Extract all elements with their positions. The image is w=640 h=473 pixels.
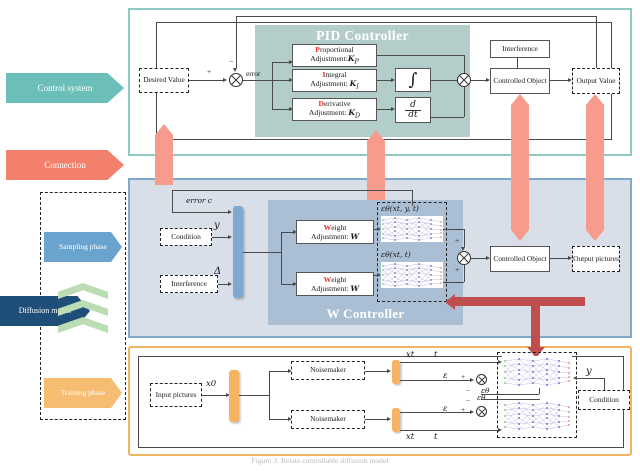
wire-xt-t-top: [400, 362, 498, 363]
eps-unconditional-network: [381, 262, 443, 288]
condition-signal-label: y: [214, 220, 220, 231]
connection-arrow-3-head: [511, 94, 529, 105]
connection-arrow-1-head: [155, 124, 173, 135]
w1-line2: Adjustment:: [311, 232, 349, 241]
condition-label-sampling: Condition: [171, 233, 201, 242]
training-network-top: [502, 356, 572, 388]
ribbon-control-system: Control system: [6, 73, 124, 103]
wire-to-weight-top: [281, 232, 293, 233]
ribbon-connection-label: Connection: [44, 160, 86, 170]
wire-p-out: [377, 55, 464, 56]
arrowhead-eps-bottom: [377, 273, 381, 277]
proportional-adjustment-box: Proportional Adjustment:KP: [292, 44, 377, 67]
derivative-denominator: dt: [405, 111, 420, 120]
d-line2: Adjustment:: [309, 108, 347, 117]
desired-value-box: Desired Value: [139, 68, 189, 93]
integral-operator-box: ∫: [395, 68, 431, 92]
w-output-summing-junction: [457, 251, 471, 265]
wire-noisemaker-bottom-out: [365, 419, 387, 420]
ribbon-sampling-phase: Sampling phase: [44, 232, 122, 262]
i-rest: ntegral: [325, 70, 346, 79]
arrowhead-eps-top: [377, 227, 381, 231]
w2-sym: W: [350, 284, 359, 293]
interference-label-sampling: Interference: [171, 280, 207, 289]
output-value-box: Output Value: [572, 68, 620, 94]
controlled-object-box-sampling: Controlled Object: [490, 246, 550, 272]
wire-error-bus: [243, 80, 272, 81]
derivative-adjustment-box: Derivative Adjustment: KD: [292, 98, 377, 121]
pid-controller-title: PID Controller: [255, 27, 470, 45]
wire-xt-t-bottom: [400, 430, 498, 431]
arrowhead-condition: [228, 235, 232, 239]
condition-box-training: Condition: [578, 390, 630, 410]
arrowhead-bar-top: [387, 369, 391, 373]
wire-eps-top-out: [443, 229, 464, 230]
train-minus-top: −: [466, 386, 470, 395]
p-rest: roportional: [320, 45, 354, 54]
ribbon-training-phase-label: Training phase: [61, 389, 106, 398]
d-rest: erivative: [324, 99, 351, 108]
wire-condition-to-net: [577, 378, 604, 379]
weight-adjustment-box-top: Weight Adjustment: W: [296, 220, 374, 244]
arrowhead-bar-bottom: [387, 417, 391, 421]
wire-plant-to-output: [550, 80, 568, 81]
w-controller-title: W Controller: [268, 305, 463, 323]
xt-label-bottom: xt: [406, 432, 414, 442]
ribbon-connection: Connection: [6, 150, 124, 180]
integral-adjustment-box: Integral Adjustment: KI: [292, 69, 377, 92]
wire-error-to-d: [272, 109, 289, 110]
eps-conditional-label: εθ(xt, y, t): [381, 204, 419, 213]
p-sub: P: [354, 59, 358, 66]
weight-adjustment-box-bottom: Weight Adjustment: W: [296, 272, 374, 296]
w2-line2: Adjustment:: [311, 284, 349, 293]
p-line2: Adjustment:: [310, 54, 348, 63]
training-bar-top: [392, 360, 400, 384]
wire-split-vertical: [269, 371, 270, 419]
t-label-top: t: [434, 350, 437, 360]
training-to-sampling-arrow-shaft-h: [455, 297, 585, 306]
loss-junction-bottom: [476, 406, 487, 417]
wire-eps-bottom-up: [464, 265, 465, 282]
ribbon-sampling-phase-label: Sampling phase: [59, 243, 107, 252]
w2-rest: eight: [331, 275, 346, 284]
wire-eps-top-down: [464, 229, 465, 247]
wire-derivative-up: [464, 87, 465, 117]
d-gain: K: [348, 108, 355, 117]
arrowhead-interference-sampling: [228, 282, 232, 286]
wire-input-to-bar: [202, 395, 226, 396]
wire-error-to-p: [272, 62, 289, 63]
wire-bar-out: [243, 252, 281, 253]
interference-label-control: Interference: [502, 45, 538, 54]
training-to-sampling-arrow-shaft-v: [531, 297, 540, 347]
condition-label-training: Condition: [589, 396, 619, 405]
error-summing-junction: [229, 73, 243, 87]
xt-label-top: xt: [406, 350, 414, 360]
sampling-concat-bar: [233, 206, 243, 298]
controlled-object-label-sampling: Controlled Object: [493, 255, 546, 264]
error-c-text: error c: [186, 196, 212, 205]
arrowhead-to-sum: [223, 78, 227, 82]
wire-to-weight-bottom: [281, 284, 293, 285]
connection-arrow-2-head: [367, 130, 385, 141]
sum-plus-sign: +: [207, 67, 211, 76]
noisemaker-label-top: Noisemaker: [310, 366, 346, 375]
interference-signal-label: Δ: [214, 266, 221, 277]
wire-eps-top-in: [400, 380, 470, 381]
desired-value-label: Desired Value: [143, 76, 185, 85]
error-label: error: [246, 69, 260, 78]
training-to-sampling-arrow-head-left: [445, 294, 455, 310]
training-input-bar: [229, 370, 239, 422]
noisemaker-label-bottom: Noisemaker: [310, 415, 346, 424]
wire-desired-to-sum: [189, 80, 223, 81]
interference-box-control: Interference: [490, 40, 550, 58]
wire-w-sum-to-plant: [471, 258, 486, 259]
wire-to-noisemaker-top: [269, 371, 288, 372]
wire-error-to-i: [272, 80, 289, 81]
output-value-label: Output Value: [576, 77, 615, 86]
error-c-label: error c: [186, 196, 212, 205]
w1-sym: W: [350, 232, 359, 241]
wire-sum-to-plant: [471, 80, 486, 81]
connection-arrow-3-shaft: [511, 105, 529, 230]
controlled-object-box-control: Controlled Object: [490, 68, 550, 94]
w1-rest: eight: [331, 223, 346, 232]
wire-bar-split-training: [239, 395, 269, 396]
integral-symbol: ∫: [409, 70, 418, 90]
ribbon-control-system-label: Control system: [38, 83, 93, 93]
w-sum-plus-top: +: [455, 236, 459, 245]
wire-error-c-to-bar: [172, 212, 228, 213]
wire-plant-to-output-pictures: [550, 258, 568, 259]
training-bar-bottom: [392, 408, 400, 432]
wire-derivative-out: [431, 117, 464, 118]
condition-box-sampling: Condition: [160, 228, 212, 246]
noisemaker-box-bottom: Noisemaker: [291, 410, 365, 429]
arrowhead-loss-top: [470, 378, 474, 382]
connection-arrow-4-head-down: [586, 230, 604, 241]
w-sum-plus-bottom: +: [455, 265, 459, 274]
condition-signal-label-training: y: [586, 366, 592, 377]
controlled-object-label-control: Controlled Object: [493, 77, 546, 86]
wire-feedback-down: [236, 16, 237, 68]
pid-output-summing-junction: [457, 73, 471, 87]
wire-integral-out: [431, 80, 457, 81]
output-pictures-box: Output pictures: [572, 246, 620, 272]
wire-error-c-top: [172, 190, 412, 191]
wire-condition-up-training: [604, 378, 605, 390]
arrowhead-error-c: [228, 210, 232, 214]
interference-box-sampling: Interference: [160, 275, 218, 293]
t-label-bottom: t: [434, 432, 437, 442]
i-sub: I: [356, 84, 359, 91]
derivative-operator-box: d dt: [395, 97, 431, 123]
eps-conditional-network: [381, 216, 443, 242]
wire-d-to-derivative: [377, 109, 391, 110]
connection-arrow-2-shaft: [367, 141, 385, 201]
arrowhead-loss-bottom: [470, 410, 474, 414]
arrowhead-feedback: [233, 68, 237, 72]
output-pictures-label: Output pictures: [573, 255, 619, 264]
d-sub: D: [355, 113, 360, 120]
noisemaker-box-top: Noisemaker: [291, 361, 365, 380]
figure-caption: Figure 3. Relate controllable diffusion …: [0, 456, 640, 465]
input-pictures-label: Input pictures: [156, 391, 197, 400]
connection-arrow-4-shaft: [586, 105, 604, 230]
connection-arrow-1-shaft: [155, 135, 173, 185]
wire-bar-split: [281, 232, 282, 284]
wire-i-to-integral: [377, 80, 391, 81]
wire-feedback-top: [236, 16, 596, 17]
input-pictures-box: Input pictures: [150, 383, 202, 407]
derivative-numerator: d: [405, 101, 420, 111]
wire-interference-to-bar: [218, 284, 228, 285]
x0-label: x0: [206, 379, 216, 389]
loss-junction-top: [476, 374, 487, 385]
wire-condition-to-bar: [212, 237, 228, 238]
i-line2: Adjustment:: [310, 79, 348, 88]
connection-arrow-3-head-down: [511, 230, 529, 241]
wire-error-c-left: [172, 190, 173, 212]
wire-to-noisemaker-bottom: [269, 419, 288, 420]
connection-arrow-4-head: [586, 94, 604, 105]
wire-eps-bottom-in: [400, 412, 470, 413]
arrowhead-condition-net: [573, 376, 577, 380]
training-network-bottom: [502, 400, 572, 432]
wire-error-vertical: [272, 62, 273, 109]
train-minus-bottom: −: [466, 396, 470, 405]
wire-noisemaker-top-out: [365, 371, 387, 372]
wire-p-down: [464, 55, 465, 74]
eps-unconditional-label: εθ(xt, t): [381, 250, 411, 259]
ribbon-training-phase: Training phase: [44, 378, 122, 408]
sum-minus-sign: −: [229, 57, 233, 66]
wire-eps-bottom-out: [443, 282, 464, 283]
